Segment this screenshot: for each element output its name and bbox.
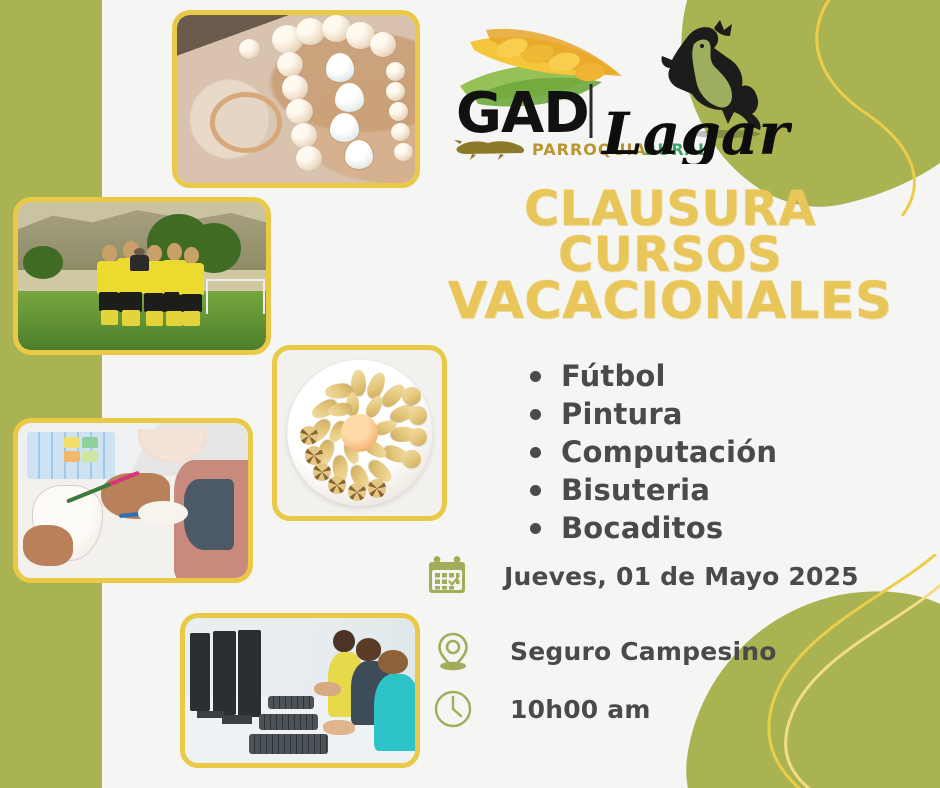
photo-pottery: [13, 418, 253, 583]
list-item: Fútbol: [530, 357, 777, 395]
bottom-right-olive-blob: [669, 567, 940, 788]
calendar-icon: [424, 553, 470, 599]
location-pin-icon: [430, 628, 476, 674]
course-list: Fútbol Pintura Computación Bisuteria Boc…: [530, 357, 777, 547]
bullet-icon: [530, 409, 541, 420]
list-item: Pintura: [530, 395, 777, 433]
gad-lagarto-logo: GAD PARROQUIAL RURAL Lagarto: [452, 14, 792, 164]
photo-computers: [180, 613, 420, 768]
left-olive-strip: [0, 0, 102, 788]
list-item: Computación: [530, 433, 777, 471]
logo-gad-text: GAD: [456, 81, 589, 146]
photo-jewelry: [172, 10, 420, 188]
photo-snacks: [272, 345, 447, 521]
course-label: Computación: [561, 438, 777, 467]
detail-row-location: Seguro Campesino: [430, 628, 777, 674]
list-item: Bisuteria: [530, 471, 777, 509]
bullet-icon: [530, 485, 541, 496]
detail-text-location: Seguro Campesino: [510, 637, 777, 666]
bullet-icon: [530, 523, 541, 534]
course-label: Pintura: [561, 400, 683, 429]
detail-row-time: 10h00 am: [430, 686, 651, 732]
clock-icon: [430, 686, 476, 732]
bullet-icon: [530, 447, 541, 458]
detail-row-date: Jueves, 01 de Mayo 2025: [424, 553, 859, 599]
logo-lagarto-text: Lagarto: [600, 100, 792, 164]
headline-line-1: CLAUSURA: [420, 186, 920, 232]
headline-line-3: VACACIONALES: [420, 278, 920, 327]
poster-canvas: GAD PARROQUIAL RURAL Lagarto CLAUSURA CU…: [0, 0, 940, 788]
page-title: CLAUSURA CURSOS VACACIONALES: [420, 186, 920, 327]
course-label: Bisuteria: [561, 476, 710, 505]
photo-soccer: [13, 197, 271, 355]
list-item: Bocaditos: [530, 509, 777, 547]
course-label: Bocaditos: [561, 514, 723, 543]
detail-text-date: Jueves, 01 de Mayo 2025: [504, 562, 859, 591]
detail-text-time: 10h00 am: [510, 695, 651, 724]
course-label: Fútbol: [561, 362, 666, 391]
bullet-icon: [530, 371, 541, 382]
